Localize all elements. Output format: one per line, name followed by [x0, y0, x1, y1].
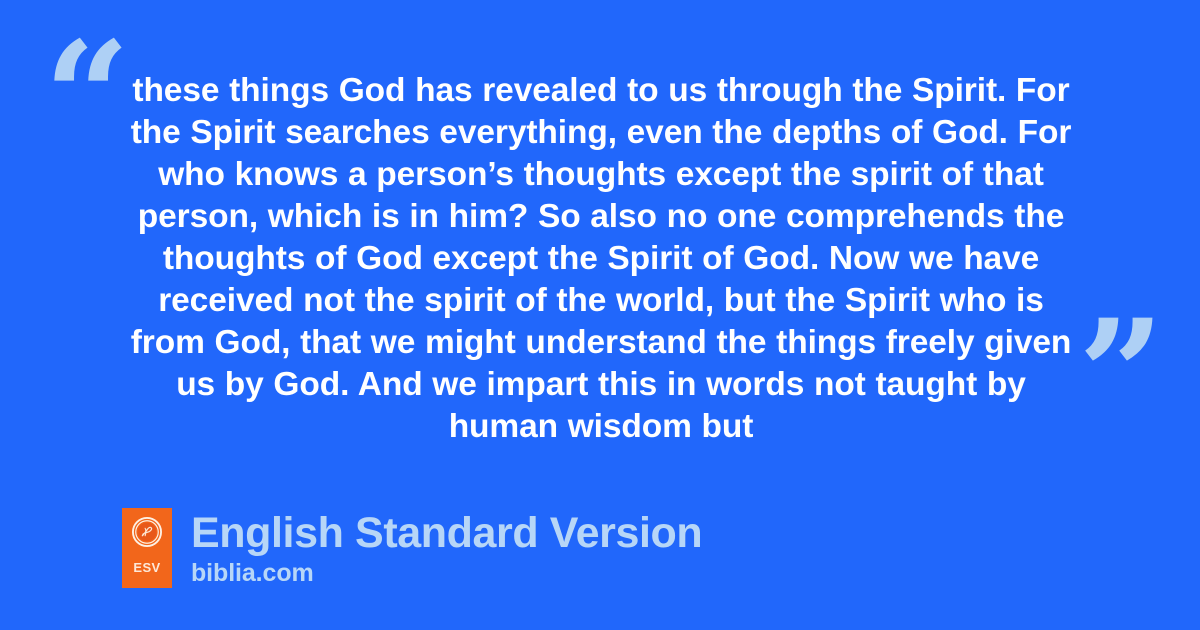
footer-text-block: English Standard Version biblia.com: [191, 509, 702, 588]
verse-share-card: “ these things God has revealed to us th…: [0, 0, 1200, 630]
bible-version-name: English Standard Version: [191, 509, 702, 557]
esv-abbreviation-label: ESV: [133, 560, 160, 575]
esv-seal-icon: [132, 517, 162, 547]
source-site-name: biblia.com: [191, 558, 702, 588]
esv-logo: ESV: [122, 508, 172, 588]
attribution-footer: ESV English Standard Version biblia.com: [122, 508, 702, 588]
verse-body: these things God has revealed to us thro…: [118, 70, 1084, 448]
verse-text: these things God has revealed to us thro…: [118, 70, 1084, 448]
close-quote-icon: ”: [1078, 300, 1164, 450]
